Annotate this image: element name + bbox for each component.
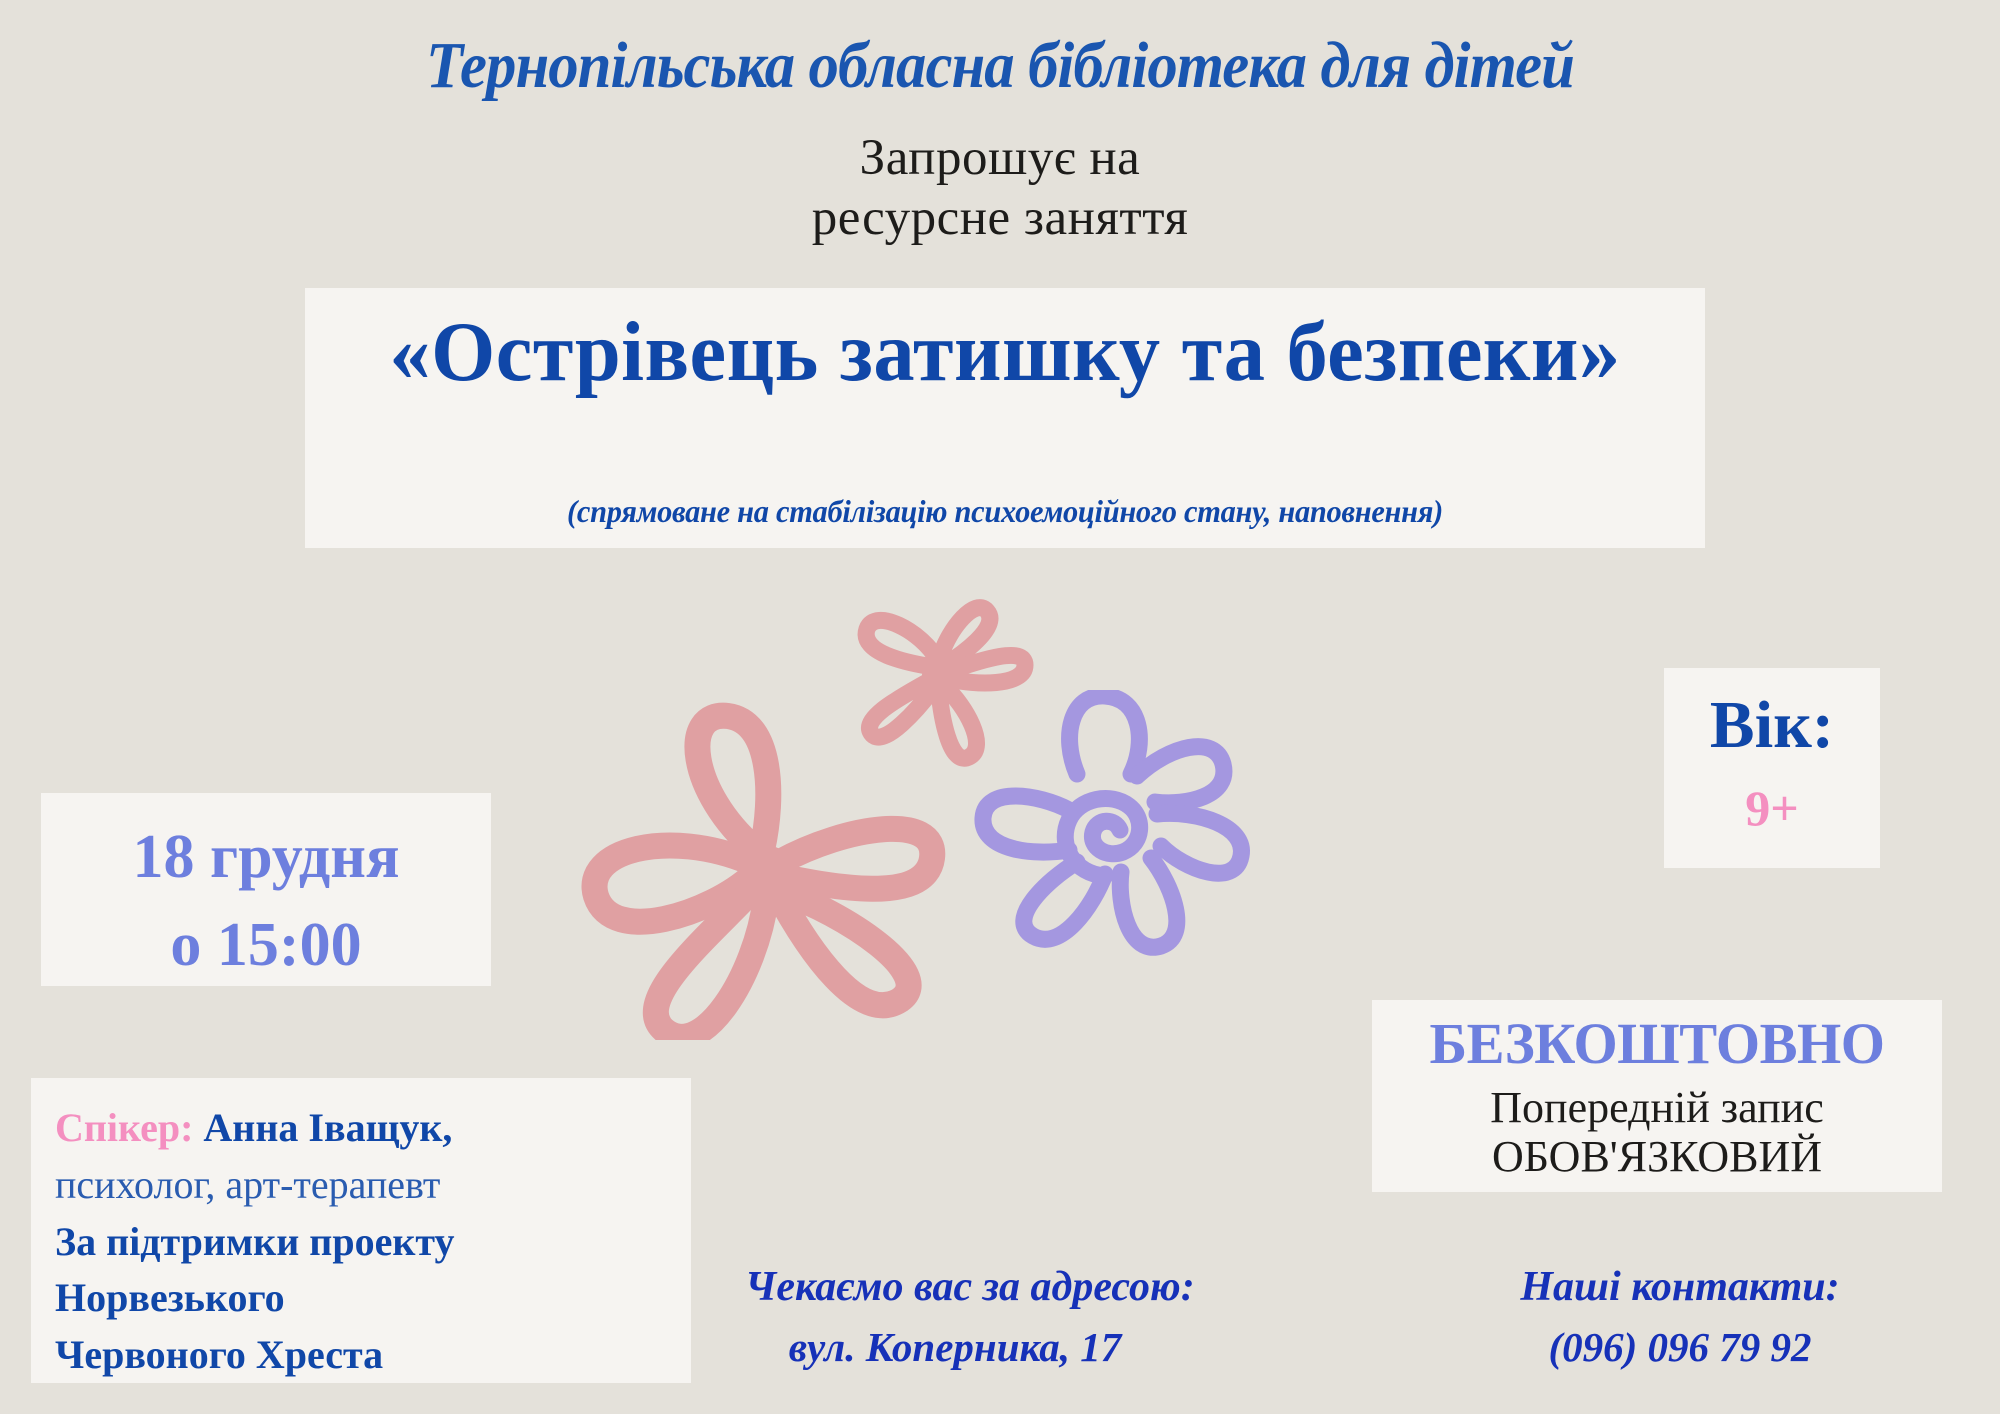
contacts-phone[interactable]: (096) 096 79 92 [1470, 1318, 1890, 1376]
event-title: «Острівець затишку та безпеки» [326, 310, 1684, 395]
age-value: 9+ [1664, 783, 1880, 833]
organization-title: Тернопільська обласна бібліотека для діт… [80, 28, 1920, 104]
invitation-block: Запрошує на ресурсне заняття [0, 128, 2000, 248]
address-heading: Чекаємо вас за адресою: [745, 1258, 1165, 1318]
address-block: Чекаємо вас за адресою: вул. Коперника, … [745, 1258, 1165, 1376]
contacts-heading: Наші контакти: [1470, 1258, 1890, 1318]
event-title-panel: «Острівець затишку та безпеки» (спрямова… [305, 288, 1705, 548]
speaker-occupation: психолог, арт-терапевт [55, 1157, 667, 1214]
contacts-block: Наші контакти: (096) 096 79 92 [1470, 1258, 1890, 1376]
event-time: о 15:00 [41, 914, 491, 976]
support-line-2: Червоного Хреста [55, 1327, 667, 1384]
registration-note-line-2: ОБОВ'ЯЗКОВИЙ [1372, 1132, 1942, 1181]
price-panel: БЕЗКОШТОВНО Попередній запис ОБОВ'ЯЗКОВИ… [1372, 1000, 1942, 1192]
flower-pink-small-icon [845, 595, 1045, 790]
invite-line-2: ресурсне заняття [0, 188, 2000, 248]
invite-line-1: Запрошує на [0, 128, 2000, 188]
poster-canvas: Тернопільська обласна бібліотека для діт… [0, 0, 2000, 1414]
free-badge: БЕЗКОШТОВНО [1378, 1014, 1937, 1075]
event-date: 18 грудня [41, 826, 491, 888]
date-panel: 18 грудня о 15:00 [41, 793, 491, 986]
support-line-1: За підтримки проекту Норвезького [55, 1214, 667, 1328]
speaker-name: Анна Іващук, [203, 1105, 452, 1150]
speaker-panel: Спікер: Анна Іващук, психолог, арт-терап… [31, 1078, 691, 1383]
event-subtitle: (спрямоване на стабілізацію психоемоційн… [340, 493, 1670, 530]
age-panel: Вік: 9+ [1664, 668, 1880, 868]
speaker-name-line: Спікер: Анна Іващук, [55, 1100, 667, 1157]
speaker-role-label: Спікер: [55, 1105, 193, 1150]
registration-note-line-1: Попередній запис [1372, 1083, 1942, 1132]
age-label: Вік: [1664, 692, 1880, 759]
address-value: вул. Коперника, 17 [745, 1318, 1165, 1376]
flower-pink-large-icon [560, 700, 980, 1045]
flower-purple-icon [965, 690, 1265, 965]
